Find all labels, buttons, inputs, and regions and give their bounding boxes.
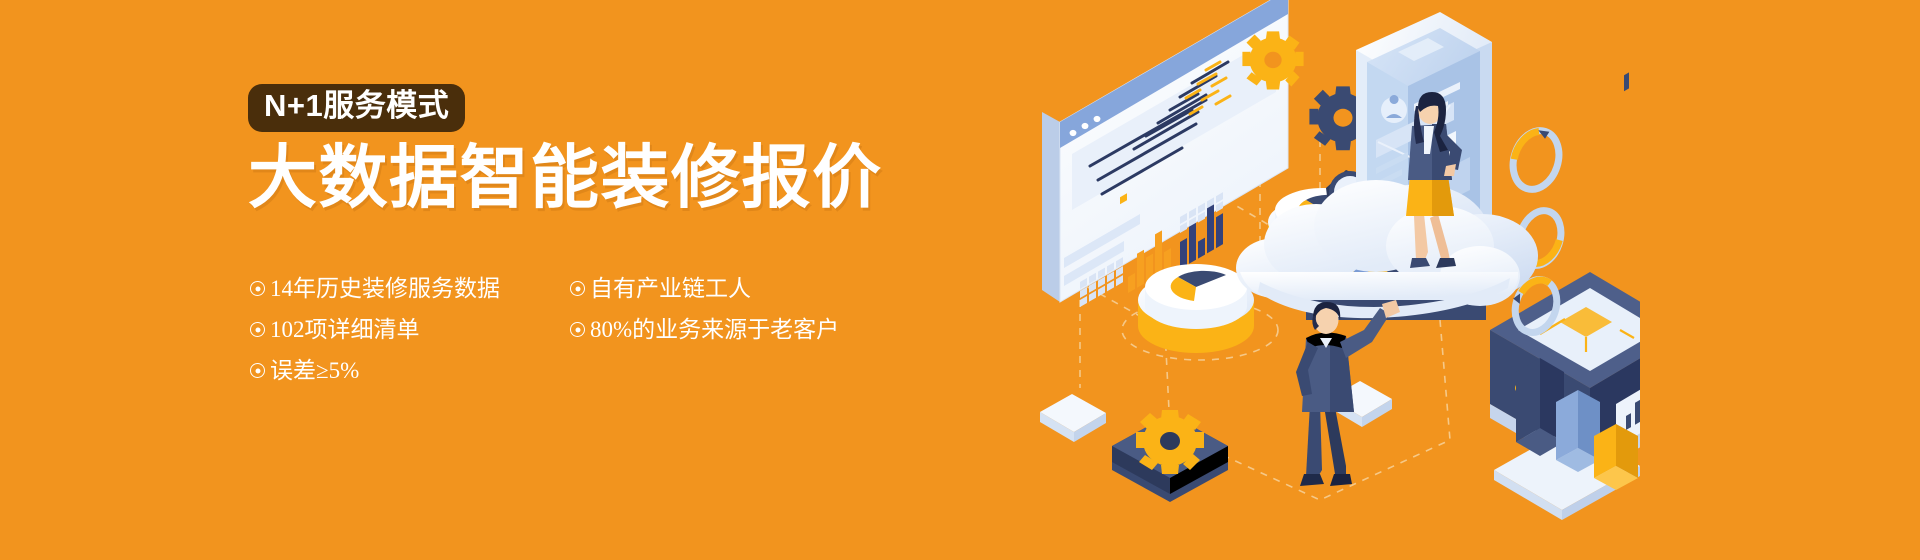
feature-bullet-list: 14年历史装修服务数据 自有产业链工人 102项详细清单 80%的业务来源于老客…: [250, 268, 950, 391]
bullet-dot-icon: [570, 322, 585, 337]
headline-group: N+1服务模式 大数据智能装修报价: [248, 84, 1008, 214]
service-model-badge: N+1服务模式: [248, 84, 465, 132]
list-item: 14年历史装修服务数据: [250, 268, 570, 309]
list-item-label: 102项详细清单: [270, 318, 420, 341]
list-item-label: 误差≥5%: [270, 359, 359, 382]
list-item-label: 80%的业务来源于老客户: [590, 318, 839, 341]
gear-hexagon-platform: [1112, 410, 1228, 502]
bullet-dot-icon: [250, 363, 265, 378]
bullet-dot-icon: [570, 281, 585, 296]
page-title: 大数据智能装修报价: [248, 141, 1008, 214]
hero-illustration: [1020, 0, 1640, 560]
list-item: 102项详细清单: [250, 309, 570, 350]
gear-orange-icon: [1136, 410, 1204, 474]
list-item: 误差≥5%: [250, 350, 570, 391]
list-item: 80%的业务来源于老客户: [570, 309, 910, 350]
promo-banner: N+1服务模式 大数据智能装修报价 14年历史装修服务数据 自有产业链工人 10…: [0, 0, 1920, 560]
list-item-label: 14年历史装修服务数据: [270, 277, 500, 300]
list-item-label: 自有产业链工人: [590, 277, 751, 300]
bullet-dot-icon: [250, 281, 265, 296]
bullet-dot-icon: [250, 322, 265, 337]
gear-orange: [1242, 31, 1303, 89]
businessman-figure: [1296, 300, 1400, 486]
list-item: 自有产业链工人: [570, 268, 910, 309]
